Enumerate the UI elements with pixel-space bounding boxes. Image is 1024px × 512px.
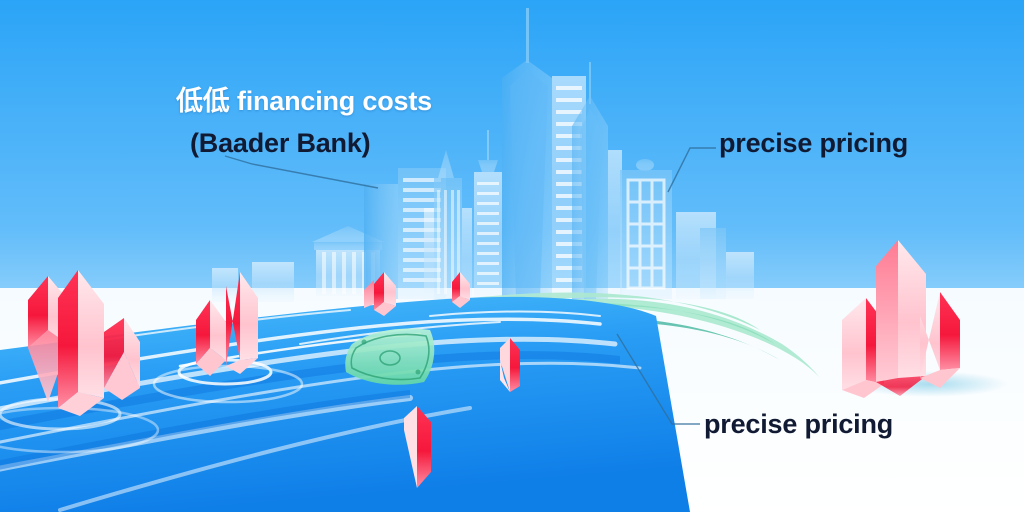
building-grid-window-tower [620, 159, 672, 299]
building-block-far-left [252, 262, 294, 302]
building-block-right-c [726, 252, 754, 299]
label-precise-pricing-top: precise pricing [719, 128, 908, 159]
building-block-right-b [700, 228, 726, 299]
label-financing-line1: 低低 financing costs [176, 86, 432, 116]
label-precise-pricing-bottom: precise pricing [704, 409, 893, 440]
illustration-scene: 低低 financing costs (Baader Bank) precise… [0, 0, 1024, 512]
label-financing-costs: 低低 financing costs (Baader Bank) [176, 80, 432, 164]
label-financing-line2: (Baader Bank) [190, 122, 432, 164]
building-block-far-right [212, 268, 238, 302]
